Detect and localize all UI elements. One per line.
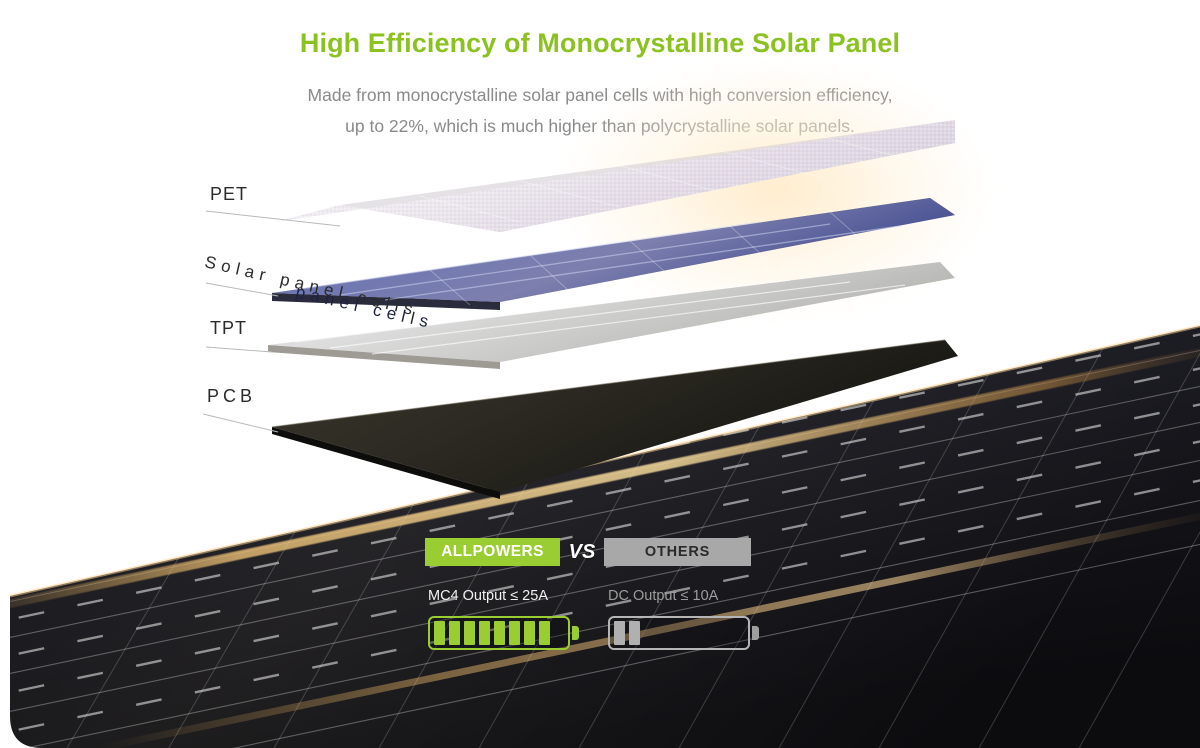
battery-segment xyxy=(449,621,460,645)
battery-segment xyxy=(479,621,490,645)
product-infographic: High Efficiency of Monocrystalline Solar… xyxy=(0,0,1200,748)
brand-output-label: MC4 Output ≤ 25A xyxy=(428,588,548,604)
battery-segment xyxy=(464,621,475,645)
battery-segment xyxy=(629,621,640,645)
others-output-label: DC Output ≤ 10A xyxy=(608,588,718,604)
badge-allpowers: ALLPOWERS xyxy=(425,538,560,566)
comparison-badges: ALLPOWERS VS OTHERS xyxy=(425,538,755,566)
battery-segment xyxy=(509,621,520,645)
badge-others: OTHERS xyxy=(604,538,751,566)
battery-nub xyxy=(752,626,759,640)
layer-label-pet: PET xyxy=(210,184,248,205)
comparison-block: ALLPOWERS VS OTHERS MC4 Output ≤ 25A DC … xyxy=(0,538,1200,668)
vs-label: VS xyxy=(560,538,604,566)
battery-segment xyxy=(524,621,535,645)
battery-segment xyxy=(494,621,505,645)
battery-body xyxy=(608,616,750,650)
battery-nub xyxy=(572,626,579,640)
battery-segment xyxy=(539,621,550,645)
battery-body xyxy=(428,616,570,650)
battery-segment xyxy=(434,621,445,645)
exploded-layer-diagram xyxy=(0,0,1200,560)
layer-label-pcb: PCB xyxy=(207,386,256,407)
layer-label-tpt: TPT xyxy=(210,318,247,339)
layer-pcb xyxy=(272,340,958,499)
battery-segment xyxy=(614,621,625,645)
